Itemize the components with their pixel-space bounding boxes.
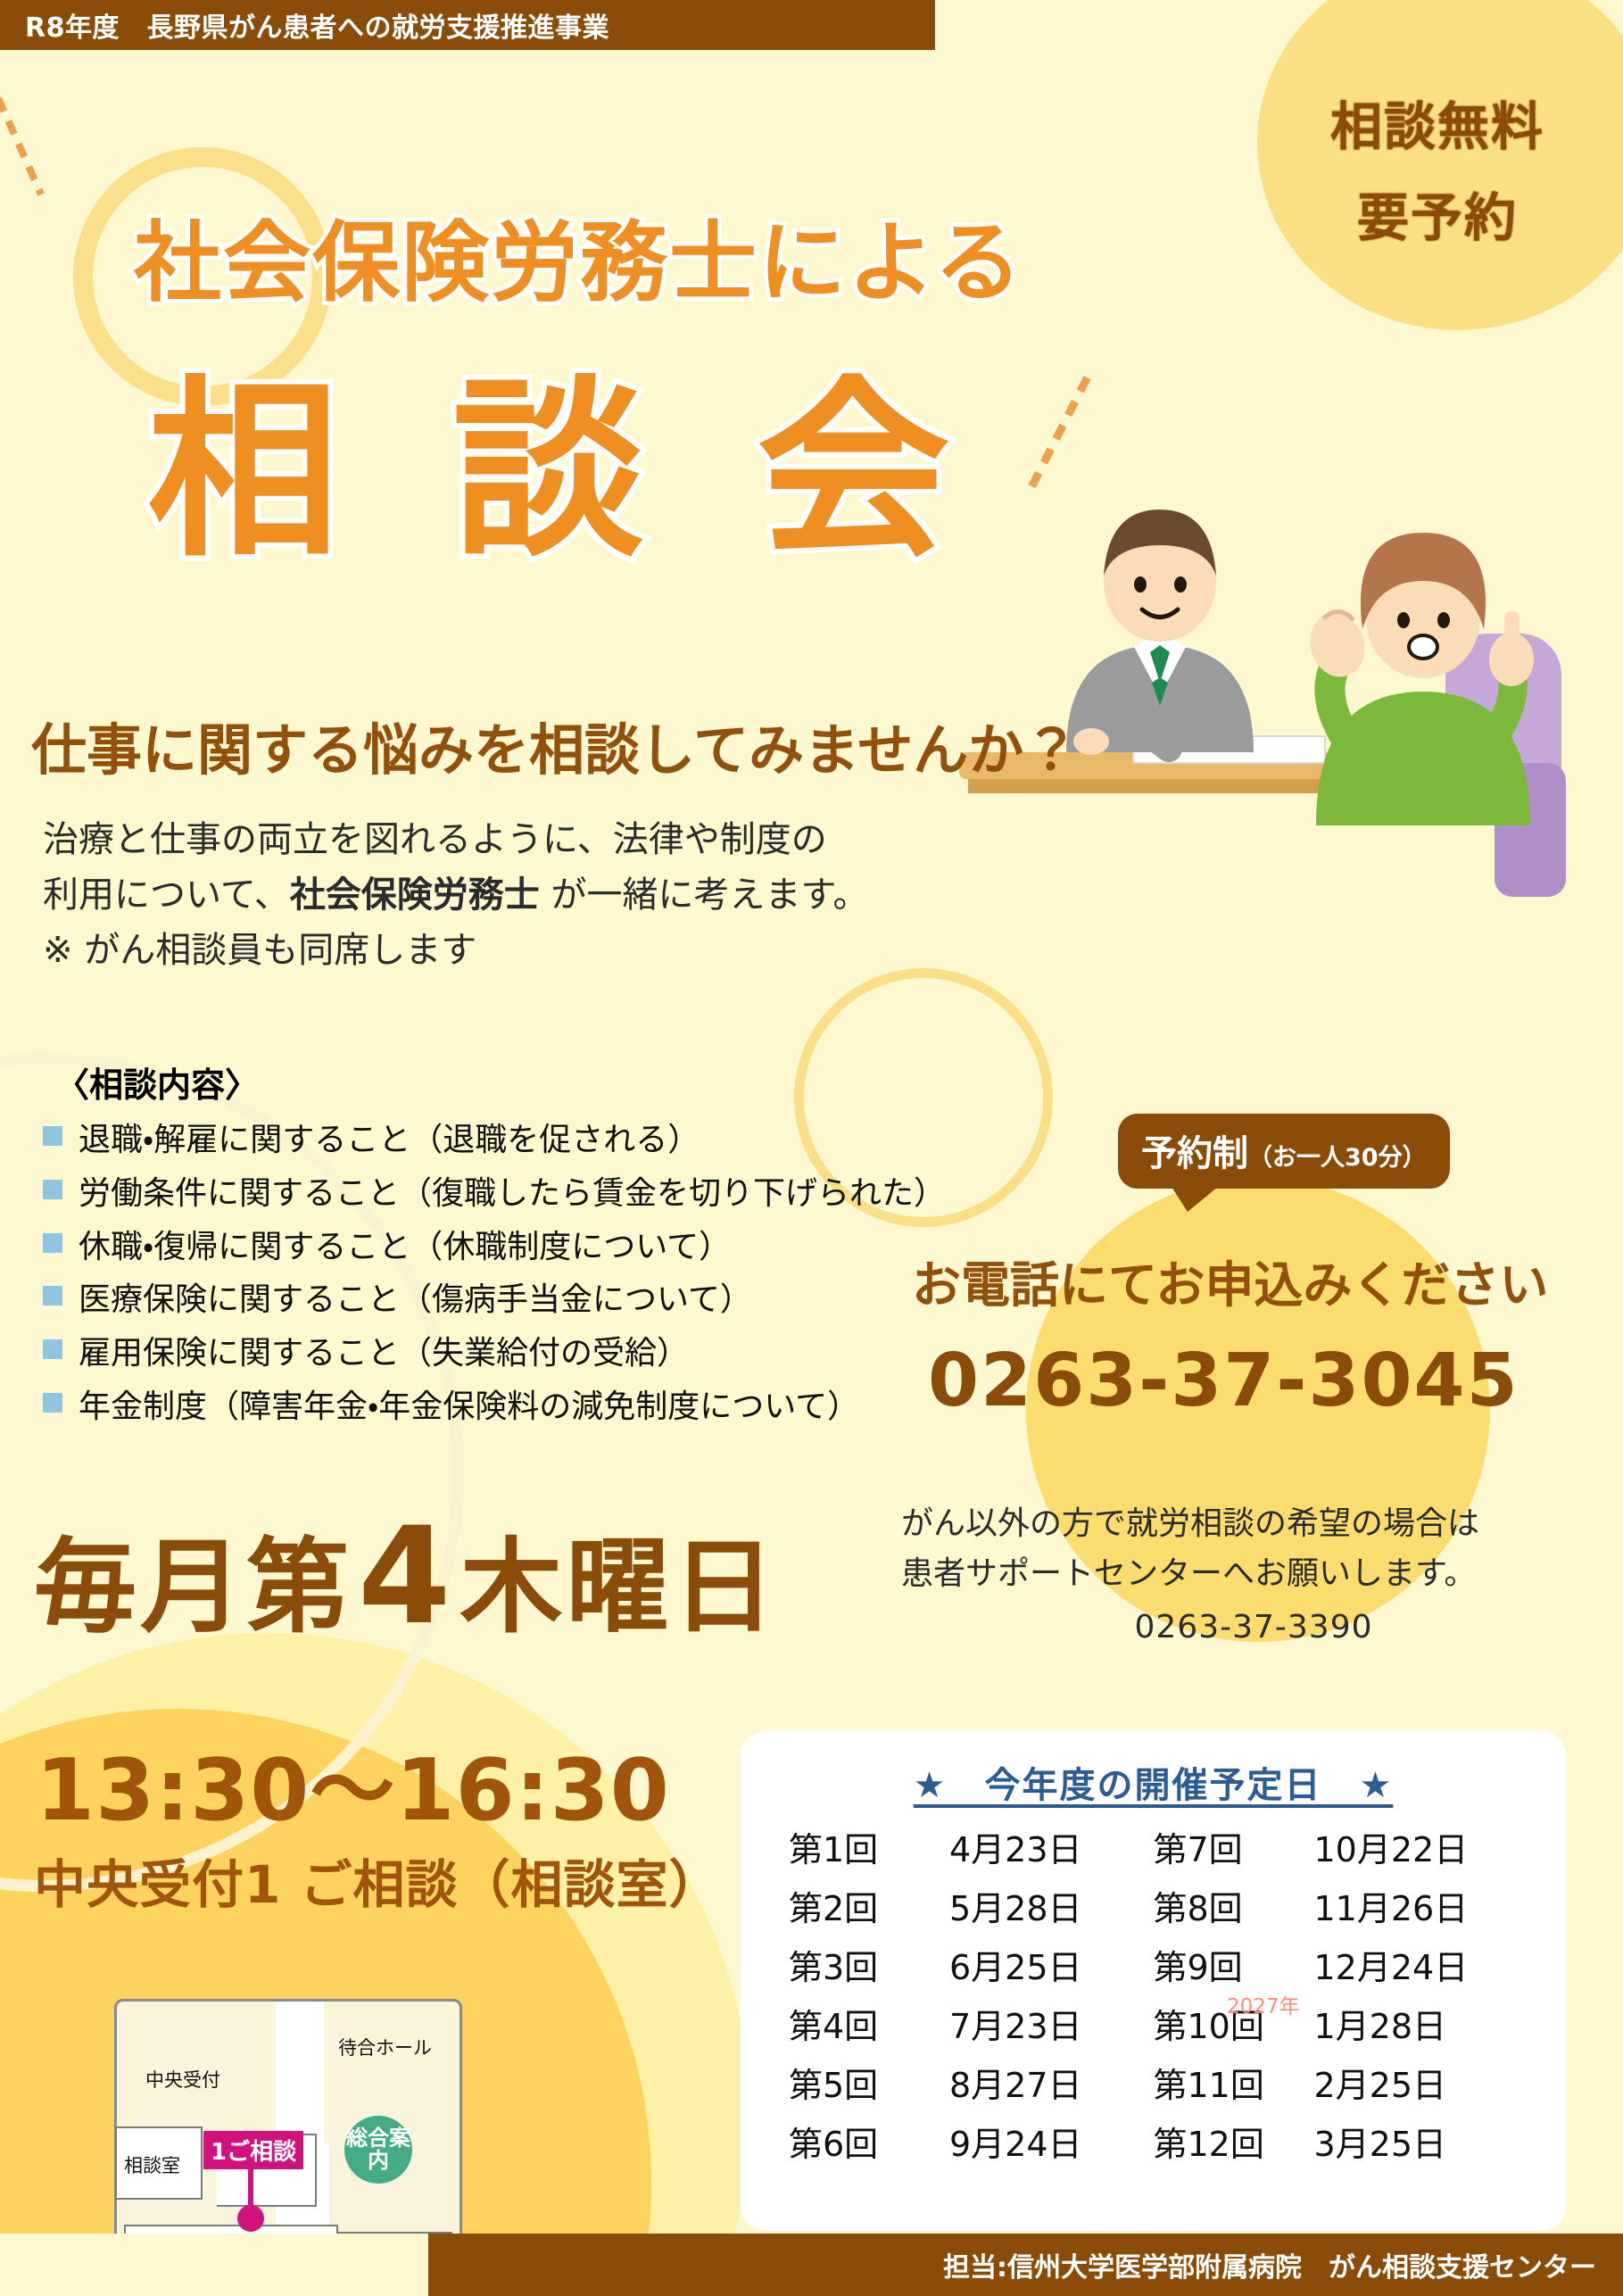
title-line1: 社会保険労務士による bbox=[134, 192, 1023, 319]
reservation-main: 予約制 bbox=[1141, 1133, 1248, 1174]
table-row: 第3回6月25日 bbox=[789, 1938, 1154, 1997]
session-number: 第6回 bbox=[789, 2127, 949, 2161]
list-item-label: 労働条件に関すること（復職したら賃金を切り下げられた） bbox=[79, 1169, 946, 1219]
frequency-number: 4 bbox=[352, 1499, 460, 1654]
session-date: 6月25日 bbox=[949, 1951, 1154, 1985]
frequency-text: 毎月第4木曜日 bbox=[34, 1499, 778, 1654]
bullet-square-icon bbox=[43, 1286, 62, 1305]
table-row: 第7回10月22日 bbox=[1154, 1820, 1519, 1879]
session-date: 1月28日 bbox=[1314, 2010, 1519, 2043]
session-date: 8月27日 bbox=[949, 2068, 1154, 2102]
body-line-1: 治療と仕事の両立を図れるように、法律や制度の bbox=[43, 812, 980, 867]
session-number: 第1回 bbox=[789, 1833, 949, 1867]
footer-left-cutout bbox=[0, 2234, 428, 2296]
schedule-heading: ★ 今年度の開催予定日 ★ bbox=[741, 1756, 1566, 1808]
reservation-sub: （お一人30分） bbox=[1248, 1144, 1427, 1172]
map-pin-text: 1ご相談 bbox=[211, 2139, 296, 2166]
body-line-2-post: が一緒に考えます。 bbox=[540, 874, 869, 916]
schedule-year-marker: 2027年 bbox=[1227, 1989, 1300, 2019]
bullet-square-icon bbox=[43, 1126, 62, 1146]
bullet-square-icon bbox=[43, 1339, 62, 1359]
badge-free-line2: 要予約 bbox=[1357, 176, 1518, 251]
phone-heading: お電話にてお申込みください bbox=[912, 1245, 1548, 1316]
list-item-label: 年金制度（障害年金・年金保険料の減免制度について） bbox=[79, 1382, 859, 1432]
decor-dashes-left bbox=[0, 96, 45, 195]
map-label-consult-room: 相談室 bbox=[124, 2151, 180, 2178]
session-number: 第7回 bbox=[1154, 1833, 1314, 1867]
session-number: 第2回 bbox=[789, 1892, 949, 1926]
table-row: 第4回7月23日 bbox=[789, 1997, 1154, 2056]
illustration-consultation bbox=[959, 468, 1611, 897]
map-label-waiting-hall: 待合ホール bbox=[338, 2034, 432, 2060]
schedule-column-right: 第7回10月22日 第8回11月26日 第9回12月24日 第10回1月28日 … bbox=[1154, 1820, 1519, 2174]
footer-text: 担当:信州大学医学部附属病院 がん相談支援センター bbox=[943, 2245, 1596, 2284]
bullet-square-icon bbox=[43, 1180, 62, 1199]
session-date: 7月23日 bbox=[949, 2010, 1154, 2043]
body-line-2-pre: 利用について、 bbox=[43, 874, 290, 916]
list-item: 医療保険に関すること（傷病手当金について） bbox=[43, 1275, 962, 1325]
title-line2: 相 談 会 bbox=[147, 375, 973, 567]
bullet-square-icon bbox=[43, 1393, 62, 1413]
session-date: 5月28日 bbox=[949, 1892, 1154, 1926]
phone-note-secondary-number[interactable]: 0263-37-3390 bbox=[901, 1603, 1606, 1653]
session-number: 第11回 bbox=[1154, 2068, 1314, 2102]
table-row: 第6回9月24日 bbox=[789, 2115, 1154, 2174]
bullet-square-icon bbox=[43, 1233, 62, 1253]
map-pin-label: 1ご相談 bbox=[203, 2131, 303, 2169]
topics-heading: 〈相談内容〉 bbox=[55, 1057, 259, 1107]
list-item: 雇用保険に関すること（失業給付の受給） bbox=[43, 1329, 962, 1379]
frequency-prefix: 毎月第 bbox=[34, 1504, 352, 1653]
list-item-label: 雇用保険に関すること（失業給付の受給） bbox=[79, 1329, 689, 1379]
session-number: 第3回 bbox=[789, 1951, 949, 1985]
schedule-grid: 第1回4月23日 第2回5月28日 第3回6月25日 第4回7月23日 第5回8… bbox=[741, 1820, 1566, 2174]
list-item-label: 退職・解雇に関すること（退職を促される） bbox=[79, 1115, 700, 1165]
session-date: 12月24日 bbox=[1314, 1951, 1519, 1985]
map-pin-dot bbox=[237, 2205, 264, 2232]
session-date: 3月25日 bbox=[1314, 2127, 1519, 2161]
map-label-central-reception: 中央受付 bbox=[145, 2066, 220, 2093]
topics-list: 退職・解雇に関すること（退職を促される） 労働条件に関すること（復職したら賃金を… bbox=[43, 1115, 962, 1436]
list-item-label: 休職・復帰に関すること（休職制度について） bbox=[79, 1223, 731, 1272]
table-row: 第10回1月28日 bbox=[1154, 1997, 1519, 2056]
badge-free-line1: 相談無料 bbox=[1330, 85, 1544, 160]
session-number: 第12回 bbox=[1154, 2127, 1314, 2161]
time-range: 13:30〜16:30 bbox=[36, 1722, 670, 1844]
session-number: 第5回 bbox=[789, 2068, 949, 2102]
session-date: 9月24日 bbox=[949, 2127, 1154, 2161]
body-line-3: ※ がん相談員も同席します bbox=[43, 923, 980, 978]
session-date: 4月23日 bbox=[949, 1833, 1154, 1867]
session-number: 第8回 bbox=[1154, 1892, 1314, 1926]
session-number: 第9回 bbox=[1154, 1951, 1314, 1985]
body-paragraph: 治療と仕事の両立を図れるように、法律や制度の 利用について、社会保険労務士 が一… bbox=[43, 812, 980, 978]
header-banner: R8年度 長野県がん患者への就労支援推進事業 bbox=[0, 0, 935, 50]
reservation-badge: 予約制（お一人30分） bbox=[1118, 1114, 1450, 1189]
floor-map: 総合案内 1ご相談 中央受付 待合ホール 相談室 正面玄関入って左 正面玄関 bbox=[114, 1999, 462, 2267]
schedule-column-left: 第1回4月23日 第2回5月28日 第3回6月25日 第4回7月23日 第5回8… bbox=[789, 1820, 1154, 2174]
phone-number[interactable]: 0263-37-3045 bbox=[928, 1339, 1519, 1423]
list-item: 退職・解雇に関すること（退職を促される） bbox=[43, 1115, 962, 1165]
table-row: 第8回11月26日 bbox=[1154, 1879, 1519, 1938]
session-date: 2月25日 bbox=[1314, 2068, 1519, 2102]
frequency-suffix: 木曜日 bbox=[460, 1504, 778, 1653]
list-item-label: 医療保険に関すること（傷病手当金について） bbox=[79, 1275, 752, 1325]
list-item: 労働条件に関すること（復職したら賃金を切り下げられた） bbox=[43, 1169, 962, 1219]
phone-note: がん以外の方で就労相談の希望の場合は 患者サポートセンターへお願いします。 02… bbox=[901, 1499, 1606, 1652]
session-date: 10月22日 bbox=[1314, 1833, 1519, 1867]
list-item: 年金制度（障害年金・年金保険料の減免制度について） bbox=[43, 1382, 962, 1432]
map-info-circle: 総合案内 bbox=[344, 2116, 412, 2184]
list-item: 休職・復帰に関すること（休職制度について） bbox=[43, 1223, 962, 1272]
phone-note-line2: 患者サポートセンターへお願いします。 bbox=[901, 1549, 1606, 1599]
poster-root: R8年度 長野県がん患者への就労支援推進事業 相談無料 要予約 社会保険労務士に… bbox=[0, 0, 1623, 2296]
body-line-2-bold: 社会保険労務士 bbox=[290, 874, 540, 916]
free-consult-badge: 相談無料 要予約 bbox=[1259, 25, 1616, 311]
session-number: 第4回 bbox=[789, 2010, 949, 2043]
phone-note-line1: がん以外の方で就労相談の希望の場合は bbox=[901, 1499, 1606, 1549]
table-row: 第2回5月28日 bbox=[789, 1879, 1154, 1938]
table-row: 第11回2月25日 bbox=[1154, 2056, 1519, 2115]
schedule-card: ★ 今年度の開催予定日 ★ 第1回4月23日 第2回5月28日 第3回6月25日… bbox=[741, 1731, 1566, 2231]
body-line-2: 利用について、社会保険労務士 が一緒に考えます。 bbox=[43, 867, 980, 923]
map-info-label: 総合案内 bbox=[344, 2127, 412, 2172]
session-date: 11月26日 bbox=[1314, 1892, 1519, 1926]
room-location: 中央受付1 ご相談（相談室） bbox=[34, 1843, 722, 1918]
table-row: 第5回8月27日 bbox=[789, 2056, 1154, 2115]
table-row: 第12回3月25日 bbox=[1154, 2115, 1519, 2174]
table-row: 第9回12月24日 bbox=[1154, 1938, 1519, 1997]
table-row: 第1回4月23日 bbox=[789, 1820, 1154, 1879]
subheading: 仕事に関する悩みを相談してみませんか？ bbox=[31, 705, 1079, 785]
